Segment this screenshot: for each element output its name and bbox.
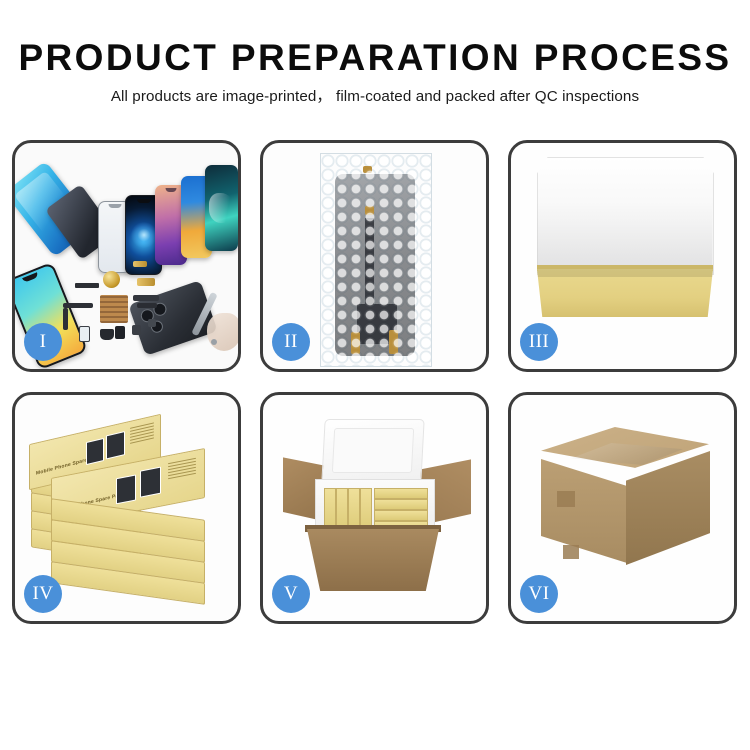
button-component <box>148 319 156 327</box>
step-badge-1: I <box>24 323 62 361</box>
product-photo-thumb <box>140 467 161 498</box>
page-title: PRODUCT PREPARATION PROCESS <box>0 36 750 80</box>
copper-shield-component <box>100 295 128 323</box>
steps-row-2: Mobile Phone Spare Parts Mobile Phone Sp… <box>12 392 738 624</box>
product-preparation-infographic: PRODUCT PREPARATION PROCESS All products… <box>0 0 750 750</box>
gold-connector-component <box>133 261 147 267</box>
carton-left-face <box>541 459 627 563</box>
step-panel-phone-parts: I <box>12 140 241 372</box>
carton-tape-mark <box>563 545 579 559</box>
step-panel-sealed-carton: VI <box>508 392 737 624</box>
step-badge-3: III <box>520 323 558 361</box>
step-badge-5: V <box>272 575 310 613</box>
camera-module-component <box>115 326 125 339</box>
step-badge-6: VI <box>520 575 558 613</box>
white-foam-lid <box>321 419 424 483</box>
flex-cable-component <box>63 308 68 330</box>
cardboard-carton <box>307 529 439 591</box>
flex-cable-component <box>133 295 159 301</box>
product-photo-thumb <box>86 438 104 465</box>
flex-cable-component <box>137 303 157 308</box>
steps-grid: I II <box>12 140 738 624</box>
step-panel-stacked-boxes: Mobile Phone Spare Parts Mobile Phone Sp… <box>12 392 241 624</box>
product-photo-thumb <box>106 431 125 459</box>
step-badge-2: II <box>272 323 310 361</box>
packed-yellow-box <box>374 510 428 521</box>
step-badge-4: IV <box>24 575 62 613</box>
yellow-box-base <box>537 269 713 317</box>
screw-component <box>211 339 217 345</box>
header: PRODUCT PREPARATION PROCESS All products… <box>0 36 750 108</box>
phone-teal-gradient <box>205 165 238 251</box>
flex-cable-component <box>63 303 93 308</box>
carton-tape-mark <box>557 491 575 507</box>
steps-row-1: I II <box>12 140 738 372</box>
step-panel-foam-carton: V <box>260 392 489 624</box>
speaker-component <box>103 271 120 288</box>
hand <box>207 313 238 351</box>
packed-yellow-box <box>374 488 428 499</box>
lid-shadow <box>537 201 712 273</box>
page-subtitle: All products are image-printed， film-coa… <box>0 86 750 108</box>
gold-connector-component <box>137 278 155 286</box>
packed-yellow-box <box>374 499 428 510</box>
bubble-texture-overlay <box>321 154 431 366</box>
carton-right-face <box>626 451 710 565</box>
step-panel-inner-box: III <box>508 140 737 372</box>
step-panel-bubble-wrap: II <box>260 140 489 372</box>
vibration-motor-component <box>132 325 141 335</box>
loudspeaker-component <box>100 329 114 340</box>
sim-tray-component <box>79 326 90 342</box>
product-photo-thumb <box>116 474 136 504</box>
bubble-wrap-bag <box>320 153 432 367</box>
earpiece-component <box>75 283 99 288</box>
